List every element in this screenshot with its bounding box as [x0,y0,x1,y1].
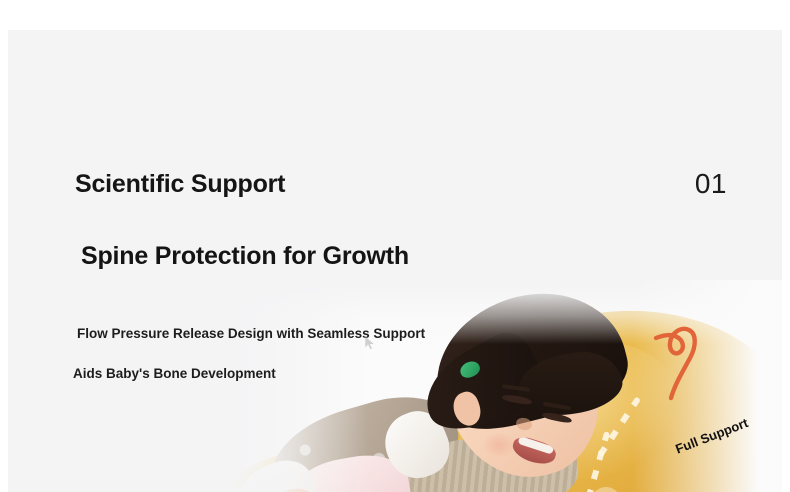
content-panel: Scientific Support Spine Protection for … [8,30,782,492]
page-subtitle: Spine Protection for Growth [81,242,409,271]
top-white-strip [0,0,790,30]
product-feature-panel: Scientific Support Spine Protection for … [0,0,790,492]
page-title: Scientific Support [75,170,285,199]
photo-left-fade [198,280,368,492]
baby-cheek [482,432,516,458]
hand-drawn-curl-icon [648,318,708,404]
step-number-badge: 01 [695,168,727,200]
mouse-cursor-icon [364,335,376,351]
feature-bullet-2: Aids Baby's Bone Development [73,366,276,381]
